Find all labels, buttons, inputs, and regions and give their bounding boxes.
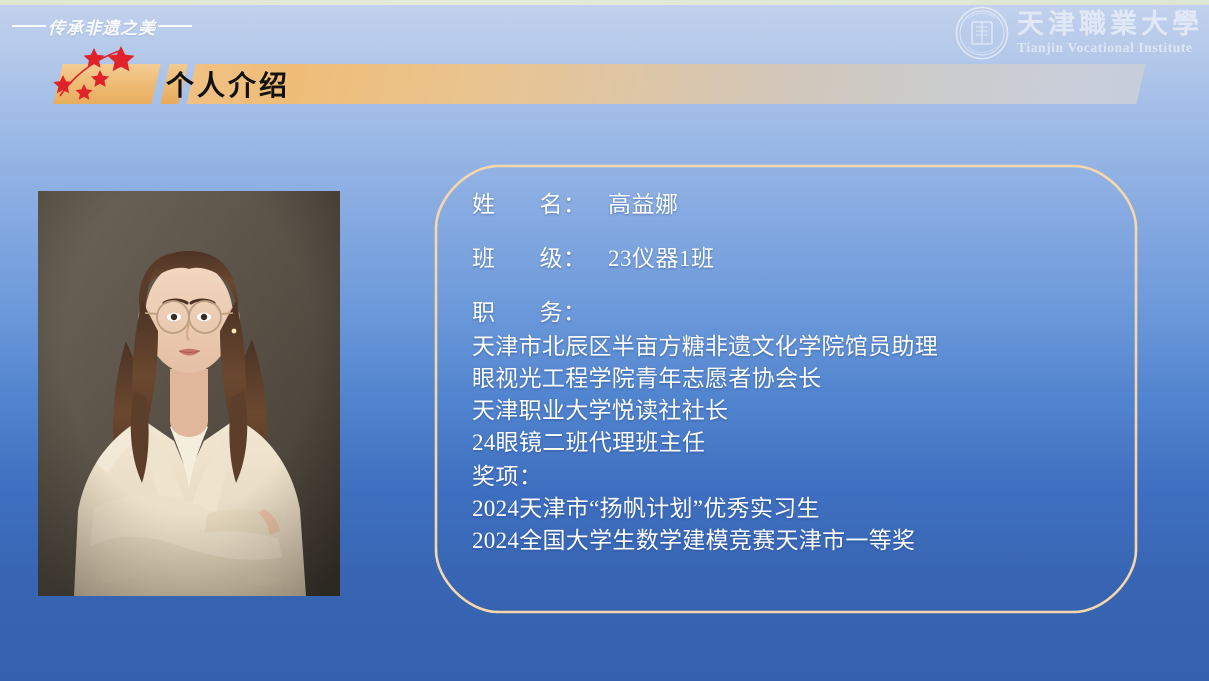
field-value-name: 高益娜 xyxy=(608,185,679,219)
kicker-decorative-text: 传承非遗之美 xyxy=(12,12,242,40)
field-label-class: 班级： xyxy=(472,239,608,273)
duties-list: 天津市北辰区半亩方糖非遗文化学院馆员助理 眼视光工程学院青年志愿者协会长 天津职… xyxy=(472,331,1112,459)
university-seal-icon xyxy=(955,6,1009,60)
banner-stars-segment xyxy=(53,64,160,104)
list-item: 2024全国大学生数学建模竞赛天津市一等奖 xyxy=(472,525,1112,557)
section-head-duties: 职务： xyxy=(472,293,1112,327)
university-logo: 天津職業大學 Tianjin Vocational Institute xyxy=(913,4,1203,62)
info-content: 姓名： 高益娜 班级： 23仪器1班 职务： 天津市北辰区半亩方糖非遗文化学院馆… xyxy=(472,185,1112,559)
field-row-name: 姓名： 高益娜 xyxy=(472,185,1112,219)
university-name-block: 天津職業大學 Tianjin Vocational Institute xyxy=(1017,11,1203,55)
list-item: 眼视光工程学院青年志愿者协会长 xyxy=(472,363,1112,395)
kicker-left-dash xyxy=(12,25,46,27)
list-item: 2024天津市“扬帆计划”优秀实习生 xyxy=(472,493,1112,525)
university-name-en: Tianjin Vocational Institute xyxy=(1017,41,1193,55)
field-row-class: 班级： 23仪器1班 xyxy=(472,239,1112,273)
portrait-photo xyxy=(38,191,340,596)
university-name-cn: 天津職業大學 xyxy=(1017,11,1203,38)
info-panel: 姓名： 高益娜 班级： 23仪器1班 职务： 天津市北辰区半亩方糖非遗文化学院馆… xyxy=(420,152,1152,626)
page-title: 个人介绍 xyxy=(166,64,290,104)
slide-individual-introduction: 传承非遗之美 天津職業大學 Tianjin Vocational Institu… xyxy=(0,0,1209,681)
kicker-label: 传承非遗之美 xyxy=(48,14,156,39)
field-value-class: 23仪器1班 xyxy=(608,239,715,273)
list-item: 24眼镜二班代理班主任 xyxy=(472,427,1112,459)
banner-main-segment xyxy=(186,64,1145,104)
field-label-name: 姓名： xyxy=(472,185,608,219)
list-item: 天津职业大学悦读社社长 xyxy=(472,395,1112,427)
section-head-awards: 奖项： xyxy=(472,461,1112,493)
awards-list: 2024天津市“扬帆计划”优秀实习生 2024全国大学生数学建模竞赛天津市一等奖 xyxy=(472,493,1112,557)
list-item: 天津市北辰区半亩方糖非遗文化学院馆员助理 xyxy=(472,331,1112,363)
kicker-right-dash xyxy=(158,25,192,27)
